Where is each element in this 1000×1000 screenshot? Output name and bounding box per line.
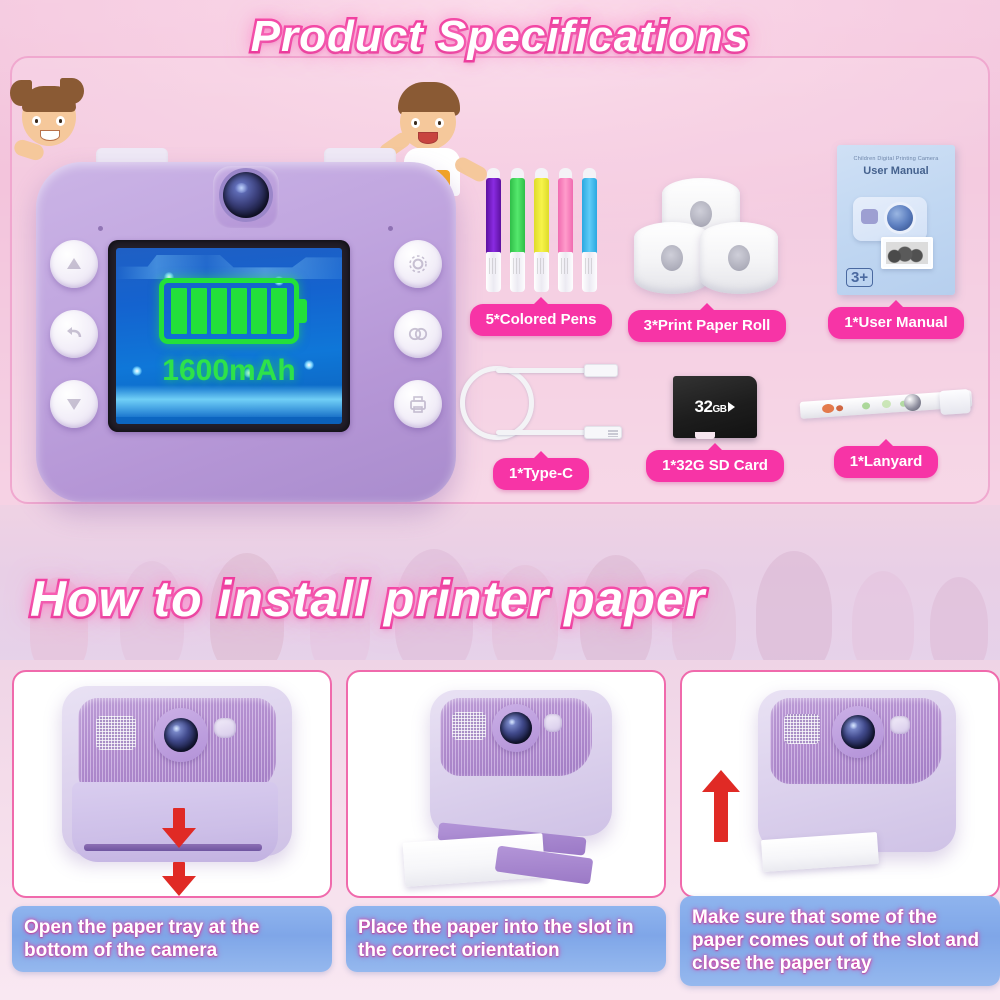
pen-pink xyxy=(558,168,573,292)
panel3-speaker-grill xyxy=(784,714,820,744)
camera-button-settings[interactable] xyxy=(394,240,442,288)
camera-screen: 1600mAh xyxy=(116,248,342,424)
panel2-speaker-grill xyxy=(452,712,486,740)
user-manual-art: Children Digital Printing Camera User Ma… xyxy=(837,145,955,295)
accessory-paper-rolls: 3*Print Paper Roll xyxy=(627,178,787,342)
microphone-hole-left xyxy=(98,226,103,231)
colored-pens-art xyxy=(486,160,597,292)
cable-wire-bottom xyxy=(496,430,592,435)
paper-roll-right xyxy=(700,222,778,294)
panel3-arrow-stem xyxy=(714,790,728,842)
badge-type-c-cable: 1*Type-C xyxy=(493,458,589,490)
pen-purple xyxy=(486,168,501,292)
badge-lanyard: 1*Lanyard xyxy=(834,446,939,478)
panel1-speaker-grill xyxy=(96,716,136,750)
panel3-camera-lens-icon xyxy=(841,715,875,749)
manual-cover-subtitle: Children Digital Printing Camera xyxy=(845,156,947,162)
accessory-colored-pens: 5*Colored Pens xyxy=(468,160,614,336)
sd-card-art: 32GB xyxy=(673,376,757,438)
cable-wire-top xyxy=(496,368,592,373)
sd-card-capacity-label: 32GB xyxy=(695,397,736,417)
product-camera-front: 1600mAh xyxy=(28,148,464,510)
howto-panel-step-1 xyxy=(12,670,332,898)
panel2-camera-lens-icon xyxy=(500,712,532,744)
howto-panel-step-2 xyxy=(346,670,666,898)
camera-button-print[interactable] xyxy=(394,380,442,428)
howto-caption-step-3: Make sure that some of the paper comes o… xyxy=(680,896,1000,986)
howto-caption-step-1: Open the paper tray at the bottom of the… xyxy=(12,906,332,972)
return-arrow-icon xyxy=(63,323,85,345)
badge-paper-rolls: 3*Print Paper Roll xyxy=(628,310,787,342)
infographic-page: Product Specifications xyxy=(0,0,1000,1000)
camera-button-effects[interactable] xyxy=(394,310,442,358)
accessory-sd-card: 32GB 1*32G SD Card xyxy=(655,376,775,482)
accessory-user-manual: Children Digital Printing Camera User Ma… xyxy=(823,145,969,339)
camera-screen-bezel: 1600mAh xyxy=(108,240,350,432)
panel1-arrow1-stem xyxy=(173,808,185,830)
triangle-down-icon xyxy=(63,393,85,415)
filter-icon xyxy=(407,323,429,345)
panel1-flash xyxy=(214,718,236,738)
manual-camera-illustration xyxy=(853,197,927,241)
camera-button-back[interactable] xyxy=(50,310,98,358)
arrow-down-icon xyxy=(162,828,196,848)
type-c-connector xyxy=(584,364,618,377)
panel2-flash xyxy=(544,714,562,732)
play-triangle-icon xyxy=(728,402,735,412)
panel2-camera xyxy=(400,686,638,886)
type-c-cable-art xyxy=(456,360,626,446)
lanyard-clip xyxy=(939,389,971,415)
gear-icon xyxy=(407,253,429,275)
age-badge: 3+ xyxy=(846,268,873,287)
page-title-specifications: Product Specifications xyxy=(0,12,1000,62)
screen-hud-bottom-graphic xyxy=(116,385,342,417)
camera-button-up[interactable] xyxy=(50,240,98,288)
camera-lens-icon xyxy=(223,172,269,218)
accessory-lanyard: 1*Lanyard xyxy=(796,378,976,478)
printer-icon xyxy=(407,393,429,415)
screen-glow-dot xyxy=(132,366,142,376)
screen-glow-dot xyxy=(304,360,314,370)
battery-level-icon xyxy=(159,278,299,344)
cable-loop xyxy=(460,366,534,440)
badge-user-manual: 1*User Manual xyxy=(828,307,963,339)
panel1-camera xyxy=(62,686,292,876)
panel3-camera xyxy=(738,684,988,884)
lanyard-art xyxy=(800,378,972,434)
pen-yellow xyxy=(534,168,549,292)
battery-capacity-label: 1600mAh xyxy=(162,354,295,388)
triangle-up-icon xyxy=(63,253,85,275)
panel3-paper-sheet xyxy=(761,832,879,872)
panel1-camera-lens-icon xyxy=(164,718,198,752)
manual-cover: Children Digital Printing Camera User Ma… xyxy=(837,145,955,295)
camera-button-down[interactable] xyxy=(50,380,98,428)
arrow-down-icon xyxy=(162,876,196,896)
panel3-flash xyxy=(890,716,910,734)
paper-rolls-art xyxy=(632,178,782,298)
arrow-up-icon xyxy=(702,770,740,792)
camera-body: 1600mAh xyxy=(36,162,456,502)
sd-card: 32GB xyxy=(673,376,757,438)
badge-colored-pens: 5*Colored Pens xyxy=(470,304,613,336)
howto-panel-step-3 xyxy=(680,670,1000,898)
manual-photo-illustration xyxy=(881,237,933,269)
pen-blue xyxy=(582,168,597,292)
page-title-howto: How to install printer paper xyxy=(30,570,705,628)
accessory-type-c-cable: 1*Type-C xyxy=(458,360,624,490)
microphone-hole-right xyxy=(388,226,393,231)
paper-roll-left xyxy=(634,222,710,294)
badge-sd-card: 1*32G SD Card xyxy=(646,450,784,482)
manual-cover-title: User Manual xyxy=(845,165,947,177)
pen-green xyxy=(510,168,525,292)
usb-a-connector xyxy=(584,426,622,439)
howto-caption-step-2: Place the paper into the slot in the cor… xyxy=(346,906,666,972)
